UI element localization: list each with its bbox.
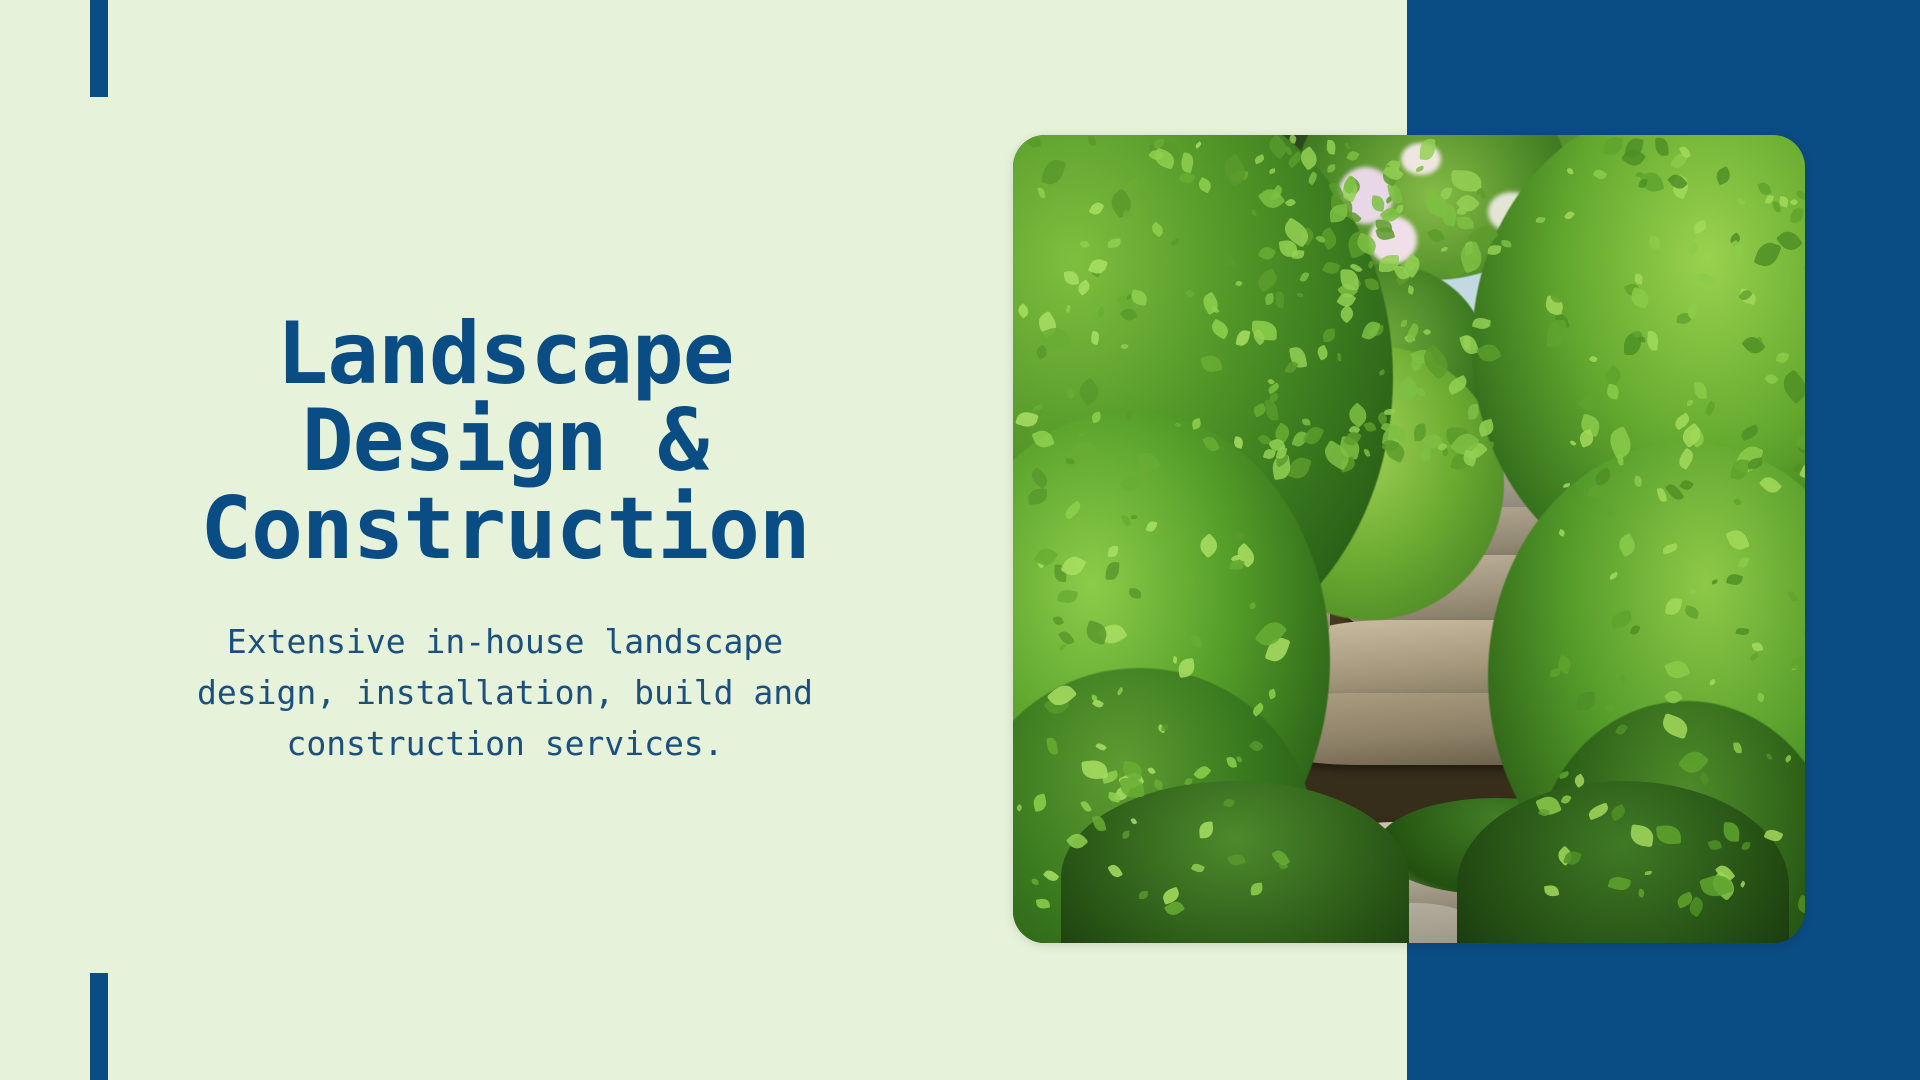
subtitle-text: Extensive in-house landscape design, ins… bbox=[60, 616, 950, 769]
leaf-speckle bbox=[1130, 514, 1136, 519]
leaf-speckle bbox=[1502, 240, 1512, 247]
leaf-speckle bbox=[1108, 546, 1118, 557]
garden-photo-image bbox=[1013, 135, 1805, 943]
title-line-3: Construction bbox=[60, 486, 950, 574]
subtitle-line-3: construction services. bbox=[60, 718, 950, 769]
title-line-1: Landscape bbox=[60, 311, 950, 399]
title-line-2: Design & bbox=[60, 398, 950, 486]
subtitle-line-1: Extensive in-house landscape bbox=[60, 616, 950, 667]
page-title: Landscape Design & Construction bbox=[60, 311, 950, 574]
text-column: Landscape Design & Construction Extensiv… bbox=[0, 0, 1010, 1080]
leaf-speckle bbox=[1031, 879, 1039, 885]
subtitle-line-2: design, installation, build and bbox=[60, 667, 950, 718]
leaf-speckle bbox=[1336, 353, 1341, 361]
garden-photo-card bbox=[1013, 135, 1805, 943]
leaf-speckle bbox=[1302, 418, 1310, 425]
leaf-speckle bbox=[1567, 168, 1574, 174]
